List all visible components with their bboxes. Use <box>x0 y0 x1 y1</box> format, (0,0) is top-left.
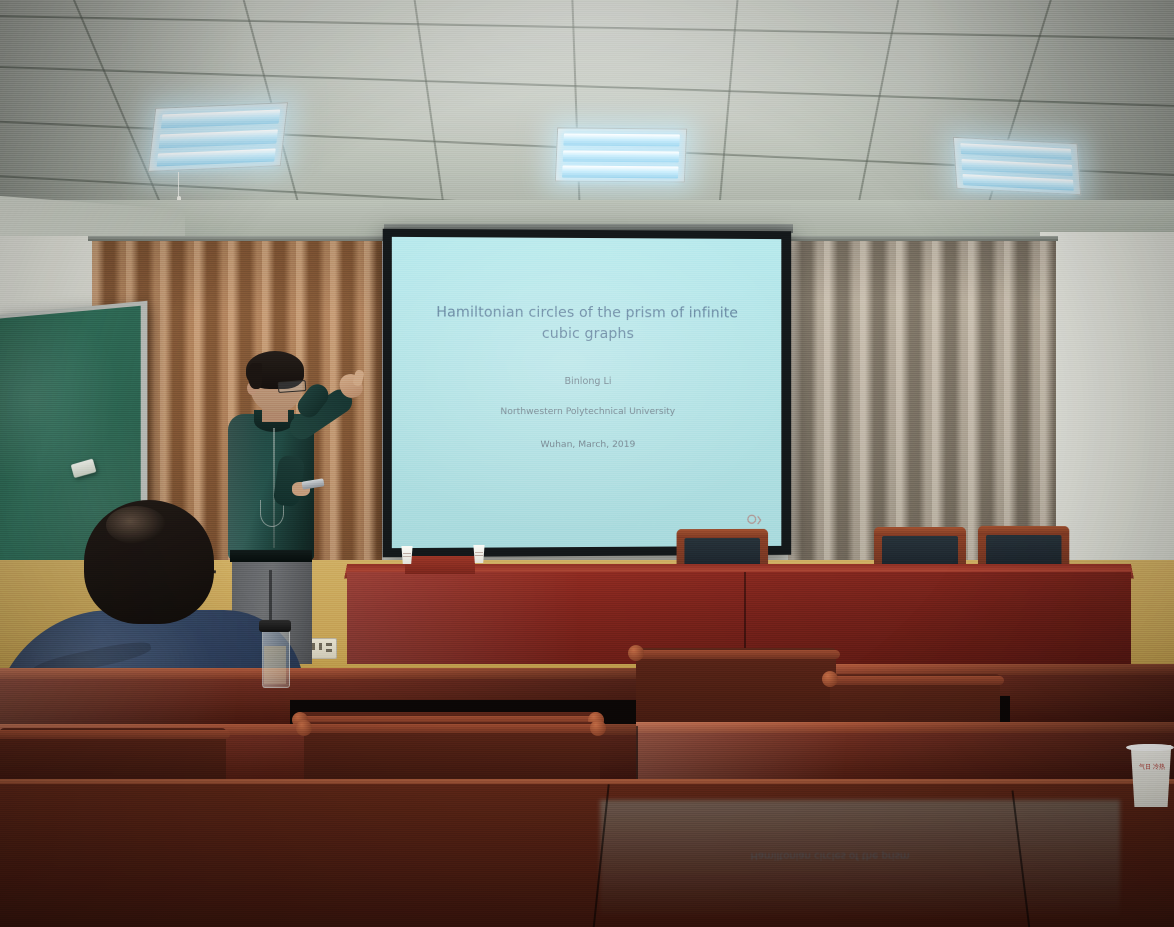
presenter-glasses <box>278 380 307 393</box>
slide-reflection-text: Hamiltonian circles of the prism <box>620 850 1040 861</box>
slide-logo-icon <box>746 514 762 528</box>
desk-row-3-right <box>636 722 1174 786</box>
ceiling-light-panel <box>555 127 687 182</box>
bottle-lid <box>259 620 291 632</box>
slide-date: Wuhan, March, 2019 <box>408 439 766 451</box>
paper-cup-label: 气日 冷热 <box>1134 763 1170 772</box>
projection-screen: Hamiltonian circles of the prism of infi… <box>383 229 791 558</box>
slide-affiliation: Northwestern Polytechnical University <box>408 406 766 417</box>
slide-author: Binlong Li <box>416 375 759 386</box>
ceiling-light-panel <box>953 137 1081 195</box>
podium-box <box>405 556 475 574</box>
slide-title: Hamiltonian circles of the prism of infi… <box>423 302 750 345</box>
lecture-room-photo: Hamiltonian circles of the prism of infi… <box>0 0 1174 927</box>
ceiling-pull-cord <box>178 172 179 198</box>
paper-cup-foreground[interactable]: 气日 冷热 <box>1128 745 1174 807</box>
projected-slide: Hamiltonian circles of the prism of infi… <box>392 237 782 548</box>
audience-head <box>84 500 214 624</box>
ceiling-light-panel <box>148 102 288 172</box>
